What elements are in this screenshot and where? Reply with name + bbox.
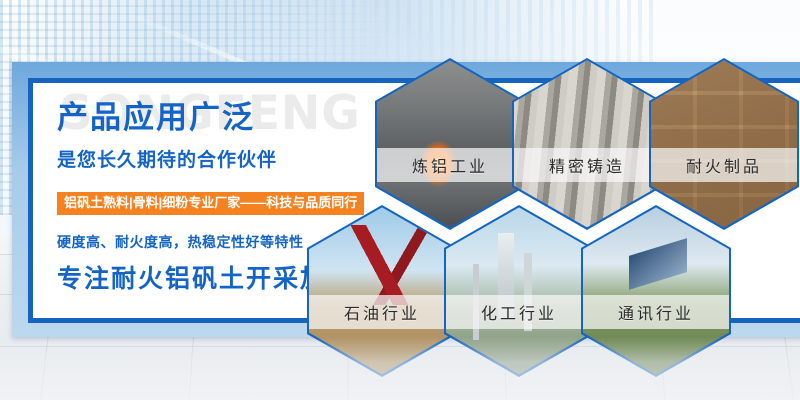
page-title: 产品应用广泛 bbox=[57, 102, 387, 133]
banner-stage: SONGFENG 产品应用广泛 是您长久期待的合作伙伴 铝矾土熟料|骨料|细粉专… bbox=[0, 0, 800, 400]
hex-label-top-3: 耐火制品 bbox=[651, 148, 797, 182]
hex-label-bottom-2: 化工行业 bbox=[446, 295, 592, 329]
orange-ribbon-label: 铝矾土熟料|骨料|细粉专业厂家——科技与品质同行 bbox=[57, 192, 364, 215]
hex-label-top-2: 精密铸造 bbox=[514, 148, 660, 182]
hex-label-top-1: 炼铝工业 bbox=[377, 148, 523, 182]
page-subtitle: 是您长久期待的合作伙伴 bbox=[57, 151, 387, 170]
hex-label-bottom-3: 通讯行业 bbox=[583, 295, 729, 329]
hex-label-bottom-1: 石油行业 bbox=[309, 295, 455, 329]
